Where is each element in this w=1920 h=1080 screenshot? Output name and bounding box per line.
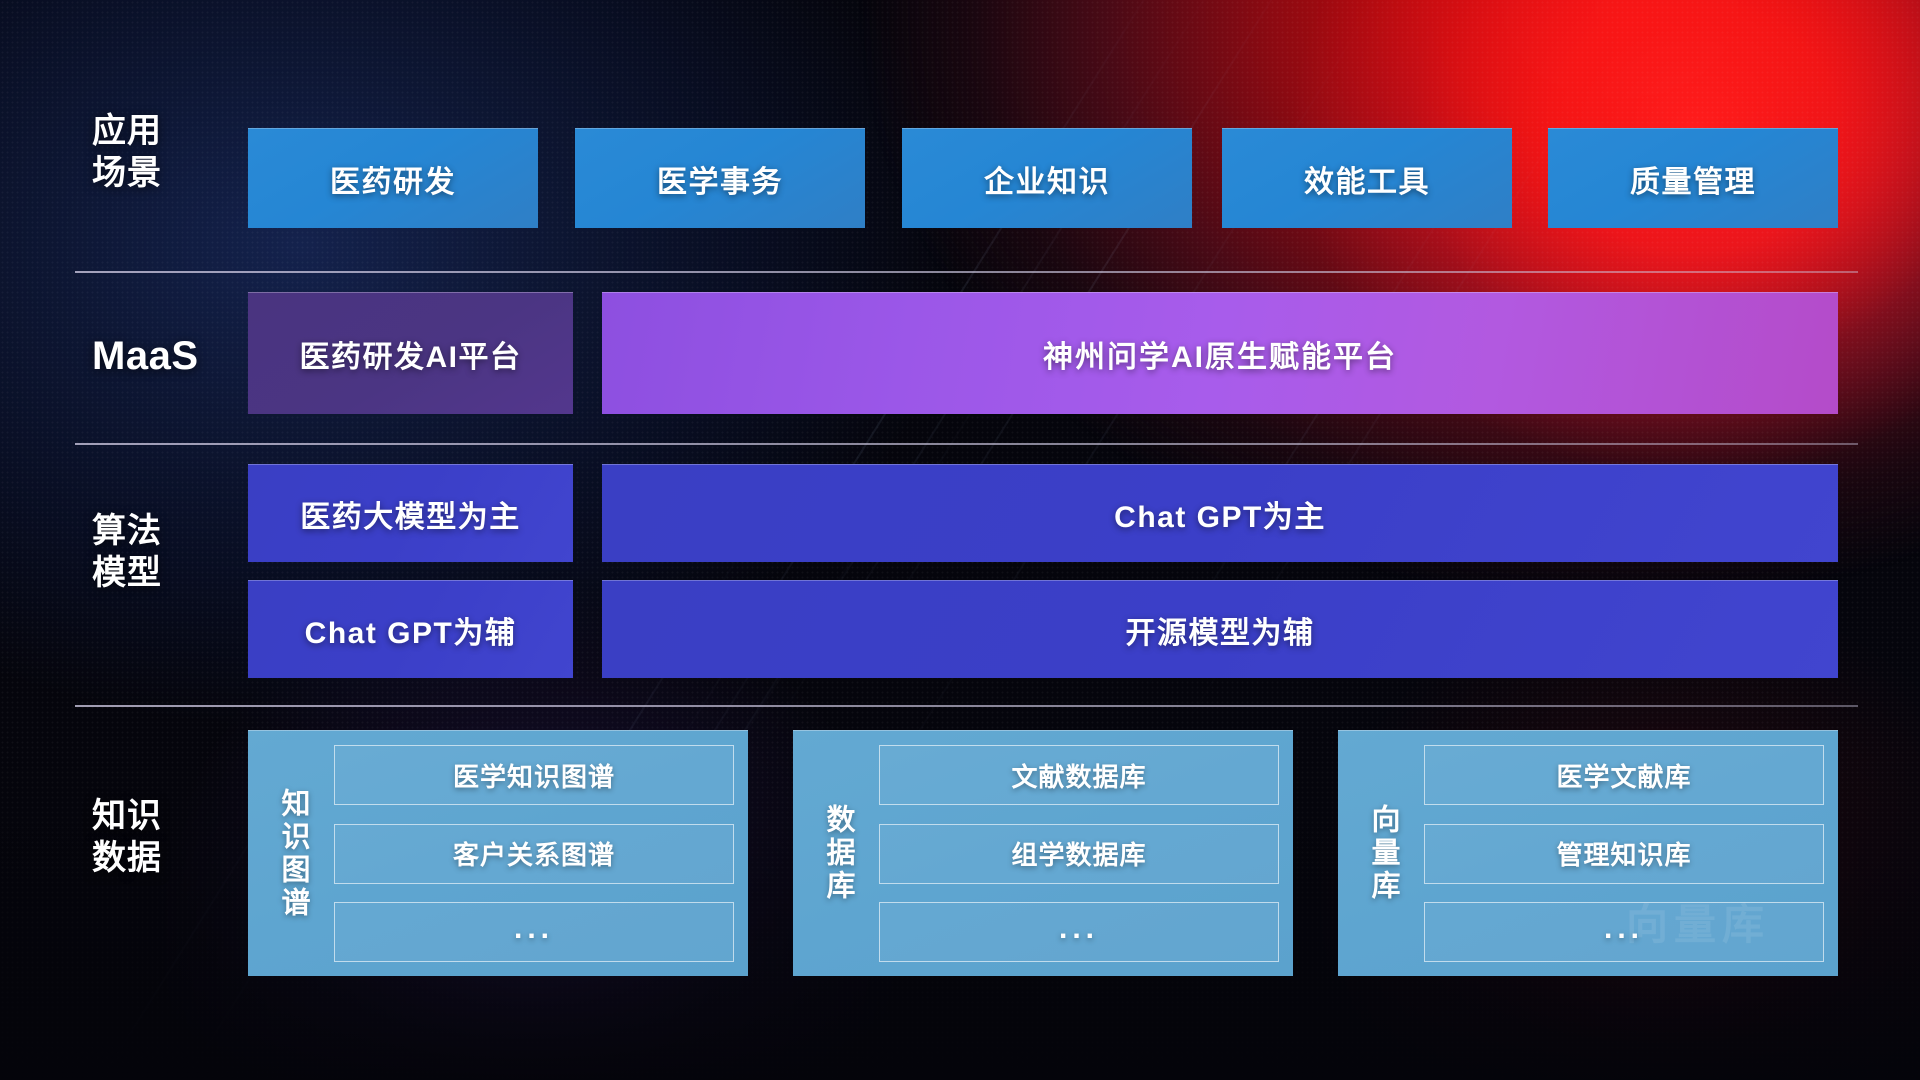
knowledge-item-more[interactable]: ... [334,902,734,962]
app-box-quality-management[interactable]: 质量管理 [1548,128,1838,228]
knowledge-item-medical-knowledge-graph[interactable]: 医学知识图谱 [334,745,734,805]
knowledge-group-items: 医学知识图谱 客户关系图谱 ... [320,745,734,962]
knowledge-group-vector-store[interactable]: 向量库 医学文献库 管理知识库 ... [1338,730,1838,976]
knowledge-group-title: 数据库 [811,745,865,962]
maas-box-pharma-ai-platform[interactable]: 医药研发AI平台 [248,292,573,414]
divider-maas-algorithm [75,443,1858,445]
maas-box-shenzhou-wenxue-platform[interactable]: 神州问学AI原生赋能平台 [602,292,1838,414]
algo-box-opensource-secondary[interactable]: 开源模型为辅 [602,580,1838,678]
algo-box-chatgpt-primary[interactable]: Chat GPT为主 [602,464,1838,562]
knowledge-item-more[interactable]: ... [879,902,1279,962]
algo-box-chatgpt-secondary[interactable]: Chat GPT为辅 [248,580,573,678]
knowledge-item-more[interactable]: ... [1424,902,1824,962]
knowledge-item-omics-database[interactable]: 组学数据库 [879,824,1279,884]
knowledge-item-customer-relation-graph[interactable]: 客户关系图谱 [334,824,734,884]
knowledge-item-medical-literature-store[interactable]: 医学文献库 [1424,745,1824,805]
row-label-algorithm-models: 算法 模型 [92,510,242,594]
knowledge-item-management-knowledge-store[interactable]: 管理知识库 [1424,824,1824,884]
row-label-knowledge-data: 知识 数据 [92,795,242,879]
knowledge-group-items: 医学文献库 管理知识库 ... [1410,745,1824,962]
app-box-enterprise-knowledge[interactable]: 企业知识 [902,128,1192,228]
row-label-line1: 知识 [92,795,242,837]
row-label-line1: 应用 [92,110,242,152]
row-label-maas: MaaS [92,335,242,377]
app-box-efficiency-tools[interactable]: 效能工具 [1222,128,1512,228]
architecture-diagram: 应用 场景 医药研发 医学事务 企业知识 效能工具 质量管理 MaaS 医药研发… [0,0,1920,1080]
algo-box-pharma-llm-primary[interactable]: 医药大模型为主 [248,464,573,562]
row-label-application-scenarios: 应用 场景 [92,110,242,194]
row-label-line2: 场景 [92,152,242,194]
app-box-medical-affairs[interactable]: 医学事务 [575,128,865,228]
app-box-pharma-rnd[interactable]: 医药研发 [248,128,538,228]
knowledge-group-database[interactable]: 数据库 文献数据库 组学数据库 ... [793,730,1293,976]
knowledge-item-literature-database[interactable]: 文献数据库 [879,745,1279,805]
row-label-line1: 算法 [92,510,242,552]
knowledge-group-knowledge-graph[interactable]: 知识图谱 医学知识图谱 客户关系图谱 ... [248,730,748,976]
knowledge-group-title: 知识图谱 [266,745,320,962]
row-label-line2: 模型 [92,552,242,594]
divider-algorithm-knowledge [75,705,1858,707]
row-label-line2: 数据 [92,837,242,879]
knowledge-group-items: 文献数据库 组学数据库 ... [865,745,1279,962]
knowledge-group-title: 向量库 [1356,745,1410,962]
divider-application-maas [75,271,1858,273]
